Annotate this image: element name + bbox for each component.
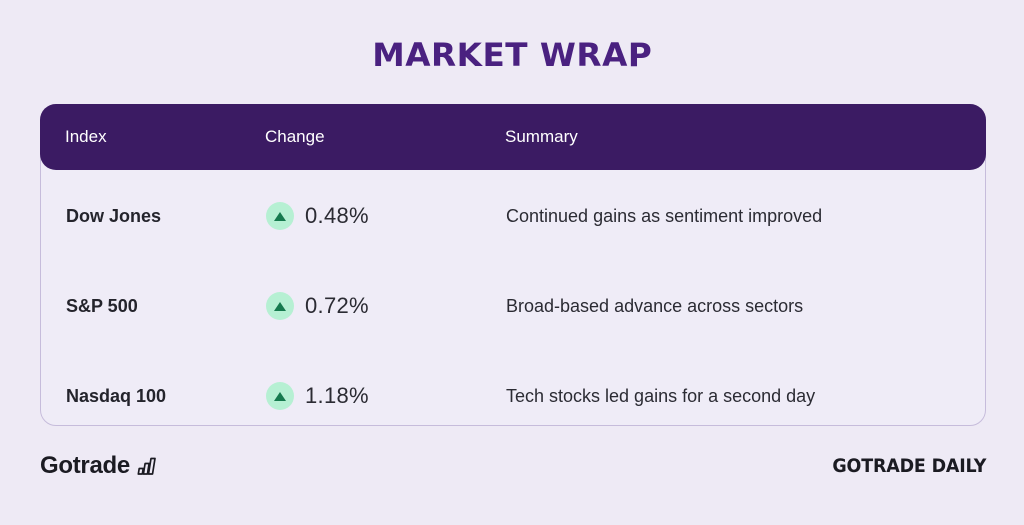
brand-name: Gotrade (40, 452, 130, 480)
summary-text: Broad-based advance across sectors (506, 296, 803, 316)
publication-name: GOTRADE DAILY (832, 455, 986, 477)
cell-index: S&P 500 (41, 296, 266, 317)
table-row: S&P 500 0.72% Broad-based advance across… (41, 261, 985, 351)
change-value: 0.48% (305, 203, 369, 229)
index-label: Dow Jones (66, 206, 161, 226)
column-header-index: Index (40, 127, 265, 147)
column-header-change: Change (265, 127, 505, 147)
cell-summary: Broad-based advance across sectors (506, 296, 985, 317)
summary-text: Continued gains as sentiment improved (506, 206, 822, 226)
cell-index: Dow Jones (41, 206, 266, 227)
triangle-up-icon (266, 382, 294, 410)
cell-change: 0.48% (266, 202, 506, 230)
change-value: 0.72% (305, 293, 369, 319)
market-wrap-page: MARKET WRAP Index Change Summary Dow Jon… (0, 0, 1024, 525)
footer: Gotrade GOTRADE DAILY (40, 452, 986, 480)
triangle-up-icon (266, 292, 294, 320)
table-body: Dow Jones 0.48% Continued gains as senti… (41, 171, 985, 425)
cell-change: 1.18% (266, 382, 506, 410)
column-header-summary: Summary (505, 127, 986, 147)
cell-summary: Continued gains as sentiment improved (506, 206, 985, 227)
table-row: Dow Jones 0.48% Continued gains as senti… (41, 171, 985, 261)
index-label: S&P 500 (66, 296, 138, 316)
brand-logo: Gotrade (40, 452, 161, 480)
ascending-bar-chart-icon (137, 454, 161, 478)
change-value: 1.18% (305, 383, 369, 409)
table-header-row: Index Change Summary (40, 104, 986, 170)
index-label: Nasdaq 100 (66, 386, 166, 406)
table-row: Nasdaq 100 1.18% Tech stocks led gains f… (41, 351, 985, 441)
triangle-up-icon (266, 202, 294, 230)
market-wrap-card: Index Change Summary Dow Jones 0.48% Con… (40, 104, 986, 426)
summary-text: Tech stocks led gains for a second day (506, 386, 815, 406)
page-title: MARKET WRAP (372, 36, 652, 74)
cell-summary: Tech stocks led gains for a second day (506, 386, 985, 407)
cell-change: 0.72% (266, 292, 506, 320)
cell-index: Nasdaq 100 (41, 386, 266, 407)
page-title-container: MARKET WRAP (0, 0, 1024, 74)
